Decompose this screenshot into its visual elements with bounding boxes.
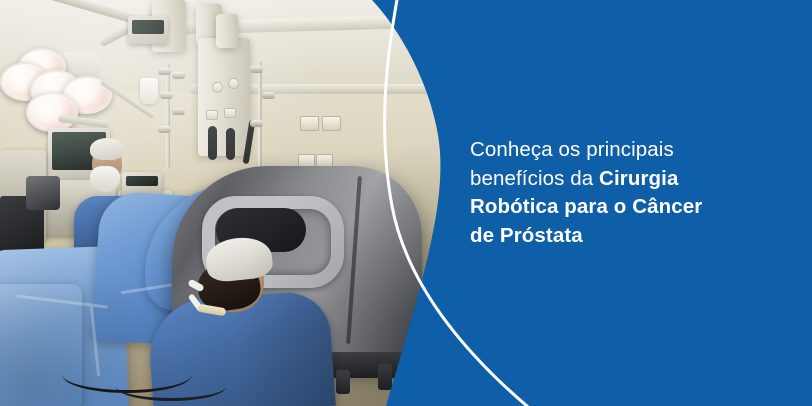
headline-line-4: de Próstata bbox=[470, 222, 780, 251]
headline-line-2-regular: benefícios da bbox=[470, 167, 599, 190]
headline-line-3: Robótica para o Câncer bbox=[470, 193, 780, 222]
operating-room-photo bbox=[0, 0, 470, 406]
headline-line-2: benefícios da Cirurgia bbox=[470, 165, 780, 194]
photo-shading bbox=[0, 0, 470, 406]
promo-banner: Conheça os principais benefícios da Ciru… bbox=[0, 0, 812, 406]
headline-line-4-bold: de Próstata bbox=[470, 224, 583, 247]
headline-line-1: Conheça os principais bbox=[470, 136, 780, 165]
headline: Conheça os principais benefícios da Ciru… bbox=[470, 136, 780, 250]
headline-line-3-bold: Robótica para o Câncer bbox=[470, 195, 702, 218]
headline-line-2-bold: Cirurgia bbox=[599, 167, 678, 190]
